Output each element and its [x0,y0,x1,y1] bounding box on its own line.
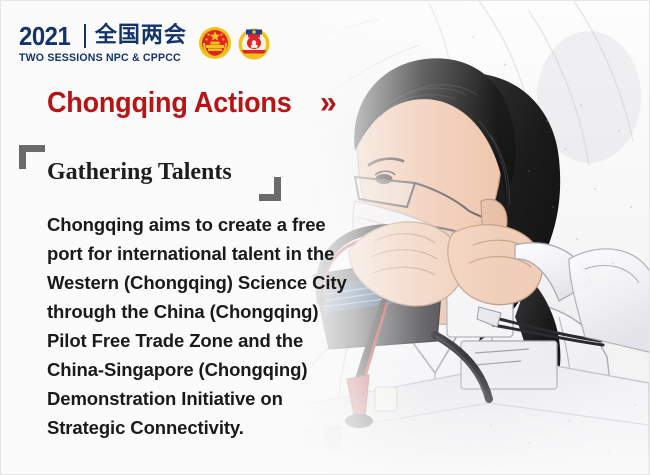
chevron-double-right-icon: » [320,87,334,119]
logo-text-block: 2021 全国两会 TWO SESSIONS NPC & CPPCC [19,23,188,64]
logo-divider [84,24,86,48]
logo-chinese-title: 全国两会 [95,25,187,47]
subtitle-block: Gathering Talents [19,145,281,201]
logo-primary-row: 2021 全国两会 [19,23,188,49]
two-sessions-logo: 2021 全国两会 TWO SESSIONS NPC & CPPCC [19,23,271,64]
infographic-card: 2021 全国两会 TWO SESSIONS NPC & CPPCC [0,0,650,475]
subtitle-text: Gathering Talents [47,159,232,185]
bracket-top-left-icon [19,145,45,169]
cppcc-emblem-icon [237,26,271,60]
national-emblem-of-china-icon [198,26,232,60]
headline-text: Chongqing Actions [47,89,292,118]
bracket-bottom-right-icon [259,177,281,201]
body-paragraph: Chongqing aims to create a free port for… [47,210,359,442]
headline: Chongqing Actions » [47,88,334,118]
logo-year: 2021 [19,23,70,49]
logo-english-subtitle: TWO SESSIONS NPC & CPPCC [19,53,181,64]
logo-emblems [198,26,271,60]
